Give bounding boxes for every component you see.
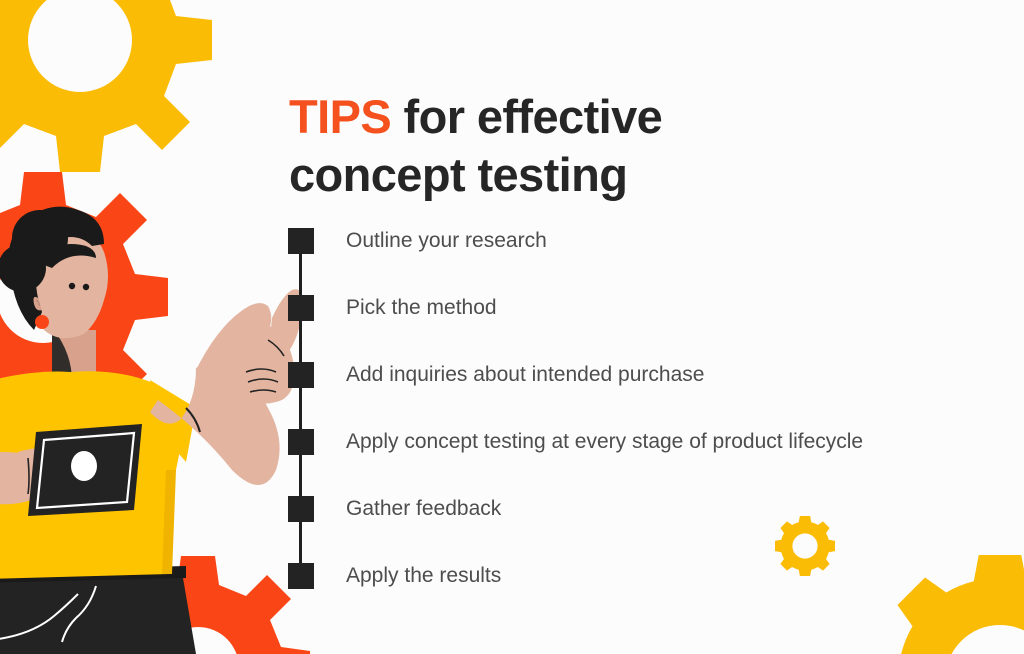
timeline-bullet-square xyxy=(288,496,314,522)
timeline-bullet-square xyxy=(288,563,314,589)
list-item[interactable]: Outline your research xyxy=(288,228,988,295)
timeline-bullet-square xyxy=(288,295,314,321)
list-item-label: Outline your research xyxy=(346,225,547,257)
list-item-label: Add inquiries about intended purchase xyxy=(346,359,704,391)
head xyxy=(0,207,108,338)
list-item[interactable]: Add inquiries about intended purchase xyxy=(288,362,988,429)
list-item[interactable]: Apply concept testing at every stage of … xyxy=(288,429,988,496)
page-title-rest: for effective xyxy=(391,90,662,143)
page-title-line-two: concept testing xyxy=(289,148,627,201)
timeline-bullet-square xyxy=(288,429,314,455)
list-item-label: Gather feedback xyxy=(346,493,501,525)
page-title: TIPS for effective concept testing xyxy=(289,88,929,204)
timeline-bullet-square xyxy=(288,362,314,388)
gear-top-left-yellow-icon xyxy=(0,0,212,172)
list-item[interactable]: Pick the method xyxy=(288,295,988,362)
person-figure xyxy=(0,207,303,654)
list-item[interactable]: Apply the results xyxy=(288,563,988,630)
tips-timeline-list: Outline your research Pick the method Ad… xyxy=(288,228,988,630)
left-hand xyxy=(9,448,69,498)
list-item-label: Apply concept testing at every stage of … xyxy=(346,426,863,458)
gear-mid-left-orange-icon xyxy=(0,172,168,422)
list-item[interactable]: Gather feedback xyxy=(288,496,988,563)
timeline-bullet-square xyxy=(288,228,314,254)
slide-canvas: TIPS for effective concept testing Outli… xyxy=(0,0,1024,654)
page-title-accent: TIPS xyxy=(289,90,391,143)
list-item-label: Apply the results xyxy=(346,560,501,592)
list-item-label: Pick the method xyxy=(346,292,497,324)
tablet-device xyxy=(28,424,142,516)
gear-bottom-left-orange-icon xyxy=(86,556,310,654)
